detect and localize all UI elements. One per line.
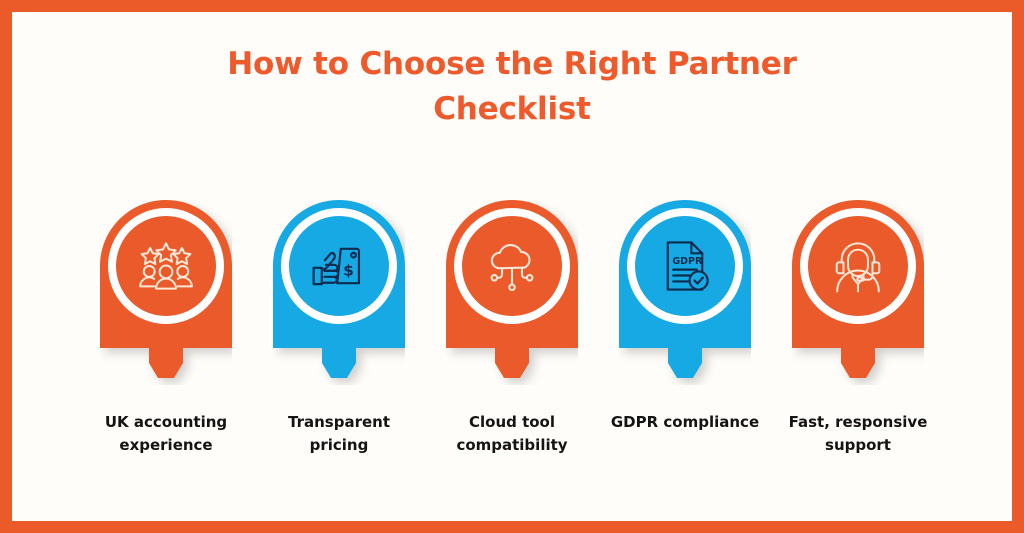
- cloud-network-icon: [483, 237, 541, 295]
- checklist-item-gdpr-compliance[interactable]: GDPR GDPR compliance: [619, 200, 751, 434]
- checklist-item-fast-responsive-support[interactable]: Fast, responsive support: [792, 200, 924, 457]
- price-tag-currency-symbol: $: [343, 262, 354, 280]
- infographic-canvas: How to Choose the Right Partner Checklis…: [12, 12, 1012, 521]
- pin-shape: [100, 200, 232, 385]
- page-title-text: How to Choose the Right Partner Checklis…: [202, 42, 822, 132]
- checklist-item-label: UK accounting experience: [86, 411, 246, 457]
- checklist-item-label: GDPR compliance: [605, 411, 765, 434]
- checklist-pin-row: UK accounting experience: [12, 200, 1012, 460]
- checklist-item-uk-accounting-experience[interactable]: UK accounting experience: [100, 200, 232, 457]
- pin-icon-container: [792, 200, 924, 332]
- pin-shape: [446, 200, 578, 385]
- pin-shape: $: [273, 200, 405, 385]
- thumbs-up-price-tag-icon: $: [310, 237, 368, 295]
- checklist-item-cloud-tool-compatibility[interactable]: Cloud tool compatibility: [446, 200, 578, 457]
- page-title: How to Choose the Right Partner Checklis…: [12, 42, 1012, 132]
- checklist-item-label: Cloud tool compatibility: [432, 411, 592, 457]
- checklist-item-label: Transparent pricing: [259, 411, 419, 457]
- pin-icon-container: GDPR: [619, 200, 751, 332]
- infographic-root: How to Choose the Right Partner Checklis…: [0, 0, 1024, 533]
- gdpr-document-check-icon: GDPR: [656, 237, 714, 295]
- pin-shape: GDPR: [619, 200, 751, 385]
- people-stars-icon: [137, 237, 195, 295]
- pin-shape: [792, 200, 924, 385]
- checklist-item-label: Fast, responsive support: [778, 411, 938, 457]
- checklist-item-transparent-pricing[interactable]: $ Transparent pricing: [273, 200, 405, 457]
- gdpr-label-text: GDPR: [672, 256, 703, 267]
- pin-icon-container: [100, 200, 232, 332]
- headset-support-agent-icon: [829, 237, 887, 295]
- pin-icon-container: $: [273, 200, 405, 332]
- pin-icon-container: [446, 200, 578, 332]
